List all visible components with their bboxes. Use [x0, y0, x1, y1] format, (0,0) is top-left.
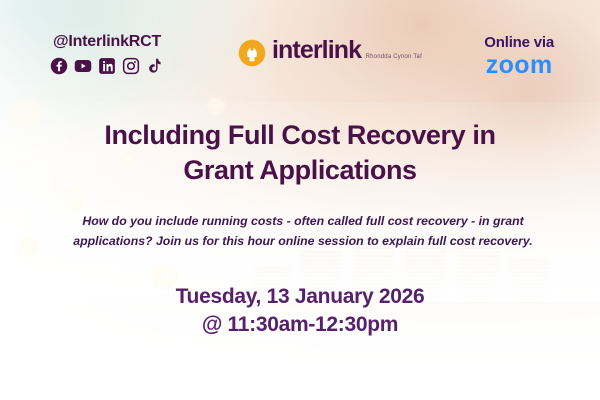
poster-content: @InterlinkRCT	[0, 0, 600, 400]
zoom-wordmark: zoom	[484, 52, 554, 78]
event-date: Tuesday, 13 January 2026	[0, 283, 600, 311]
event-time: @ 11:30am-12:30pm	[0, 311, 600, 339]
facebook-icon[interactable]	[50, 57, 68, 75]
instagram-icon[interactable]	[122, 57, 140, 75]
interlink-wordmark: interlink	[272, 36, 361, 64]
interlink-logo: interlink Rhondda Cynon Taf	[238, 38, 422, 67]
social-icon-row	[22, 57, 192, 75]
social-block: @InterlinkRCT	[22, 33, 192, 75]
youtube-icon[interactable]	[74, 57, 92, 75]
event-description: How do you include running costs - often…	[46, 212, 560, 252]
tiktok-icon[interactable]	[146, 57, 164, 75]
page-title: Including Full Cost Recovery in Grant Ap…	[0, 118, 600, 187]
page-title-line-1: Including Full Cost Recovery in	[60, 118, 540, 153]
interlink-subtitle: Rhondda Cynon Taf	[366, 54, 422, 60]
online-via-label: Online via	[484, 34, 554, 51]
online-via-zoom-block: Online via zoom	[484, 34, 554, 78]
event-poster: @InterlinkRCT	[0, 0, 600, 400]
interlink-logo-text: interlink Rhondda Cynon Taf	[272, 38, 422, 63]
event-datetime: Tuesday, 13 January 2026 @ 11:30am-12:30…	[0, 283, 600, 338]
page-title-line-2: Grant Applications	[60, 153, 540, 188]
social-handle: @InterlinkRCT	[22, 33, 192, 51]
interlink-logo-mark-icon	[238, 39, 266, 67]
linkedin-icon[interactable]	[98, 57, 116, 75]
